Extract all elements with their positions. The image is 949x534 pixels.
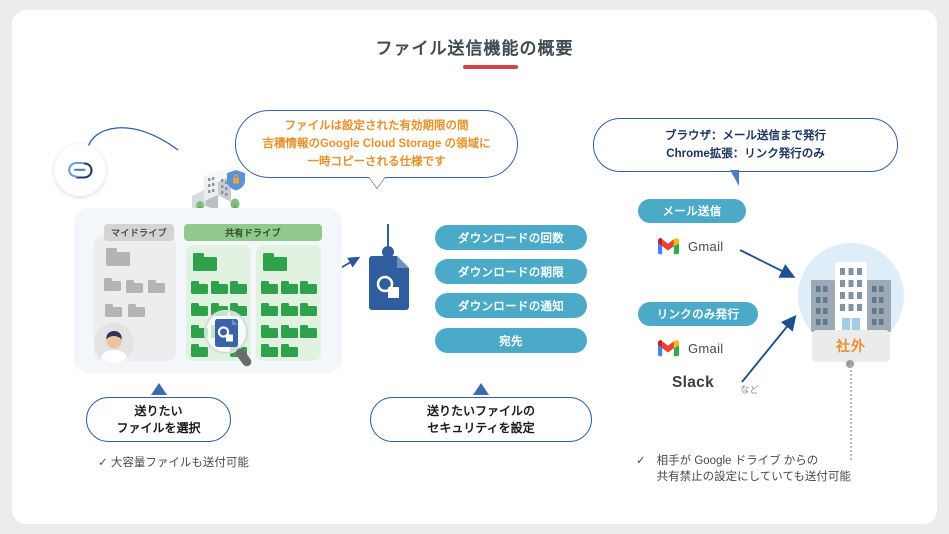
set-security-line-1: 送りたいファイルの bbox=[427, 403, 535, 419]
folder-green bbox=[281, 344, 298, 357]
link-app-gmail: Gmail bbox=[657, 340, 723, 357]
mail-send-label: メール送信 bbox=[638, 199, 746, 223]
folder-green bbox=[263, 253, 287, 271]
select-file-callout-tail bbox=[151, 383, 167, 395]
isometric-building-icon bbox=[184, 166, 250, 212]
folder-green bbox=[211, 281, 228, 294]
storage-callout-tail bbox=[369, 177, 385, 188]
gmail-icon bbox=[657, 340, 679, 357]
arrow-mail-to-external bbox=[740, 250, 792, 276]
link-app-slack-label: Slack bbox=[672, 374, 714, 392]
note-sharing-line-1: 相手が Google ドライブ からの bbox=[657, 453, 851, 469]
select-file-callout: 送りたい ファイルを選択 bbox=[86, 397, 231, 442]
folder-gray bbox=[104, 278, 121, 291]
link-app-slack: Slack bbox=[672, 374, 714, 392]
folder-gray bbox=[128, 304, 145, 317]
folder-green bbox=[300, 281, 317, 294]
note-large-file: ✓ 大容量ファイルも送付可能 bbox=[98, 455, 249, 471]
storage-callout-line-1: ファイルは設定された有効期限の間 bbox=[285, 118, 469, 134]
select-file-line-1: 送りたい bbox=[134, 403, 182, 419]
folder-green bbox=[281, 281, 298, 294]
person-avatar-icon bbox=[94, 323, 134, 363]
office-building-icon bbox=[809, 258, 893, 336]
folder-green bbox=[193, 253, 217, 271]
my-drive-tab[interactable]: マイドライブ bbox=[104, 224, 174, 241]
badge-to-shield-curve bbox=[88, 128, 178, 150]
issuance-callout-tail bbox=[730, 170, 739, 186]
folder-green bbox=[230, 281, 247, 294]
link-app-gmail-label: Gmail bbox=[688, 341, 723, 356]
magnifying-glass-icon bbox=[202, 310, 264, 368]
storage-callout-line-2: 吉積情報のGoogle Cloud Storage の領域に bbox=[262, 136, 490, 152]
external-label: 社外 bbox=[812, 330, 890, 362]
folder-gray bbox=[105, 304, 122, 317]
security-option-download-notification[interactable]: ダウンロードの通知 bbox=[435, 293, 587, 318]
gmail-icon bbox=[657, 238, 679, 255]
folder-green bbox=[261, 281, 278, 294]
shared-drive-tab[interactable]: 共有ドライブ bbox=[184, 224, 322, 241]
note-sharing-restriction: ✓ 相手が Google ドライブ からの 共有禁止の設定にしていても送付可能 bbox=[636, 453, 851, 485]
slide-card: ファイル送信機能の概要 ファイルは設定された有効期限の間 吉積情報のGoogle… bbox=[12, 10, 937, 524]
issuance-callout: ブラウザ：メール送信まで発行 Chrome拡張：リンク発行のみ bbox=[593, 118, 898, 172]
issuance-callout-line-2: Chrome拡張：リンク発行のみ bbox=[666, 147, 824, 162]
etc-label: など bbox=[740, 382, 759, 396]
blue-document-icon bbox=[367, 256, 411, 310]
note-check-icon: ✓ bbox=[636, 453, 646, 485]
folder-gray bbox=[106, 248, 130, 266]
set-security-line-2: セキュリティを設定 bbox=[427, 420, 534, 436]
security-option-recipient[interactable]: 宛先 bbox=[435, 328, 587, 353]
link-only-label: リンクのみ発行 bbox=[638, 302, 758, 326]
folder-green bbox=[300, 303, 317, 316]
issuance-callout-line-1: ブラウザ：メール送信まで発行 bbox=[665, 129, 826, 144]
folder-green bbox=[300, 325, 317, 338]
folder-gray bbox=[148, 280, 165, 293]
paperclip-link-icon bbox=[54, 144, 106, 196]
storage-callout-line-3: 一時コピーされる仕様です bbox=[308, 154, 446, 170]
folder-green bbox=[281, 303, 298, 316]
security-option-download-count[interactable]: ダウンロードの回数 bbox=[435, 225, 587, 250]
folder-green bbox=[191, 281, 208, 294]
security-option-download-deadline[interactable]: ダウンロードの期限 bbox=[435, 259, 587, 284]
set-security-callout-tail bbox=[473, 383, 489, 395]
external-dotted-line bbox=[850, 365, 852, 460]
set-security-callout: 送りたいファイルの セキュリティを設定 bbox=[370, 397, 592, 442]
select-file-line-2: ファイルを選択 bbox=[116, 420, 200, 436]
mail-app-gmail: Gmail bbox=[657, 238, 723, 255]
note-sharing-line-2: 共有禁止の設定にしていても送付可能 bbox=[657, 469, 851, 485]
folder-green bbox=[281, 325, 298, 338]
mail-app-gmail-label: Gmail bbox=[688, 239, 723, 254]
shared-drive-column-b bbox=[256, 245, 321, 361]
storage-callout: ファイルは設定された有効期限の間 吉積情報のGoogle Cloud Stora… bbox=[235, 110, 518, 178]
folder-gray bbox=[126, 280, 143, 293]
arrow-link-to-external bbox=[742, 318, 794, 382]
